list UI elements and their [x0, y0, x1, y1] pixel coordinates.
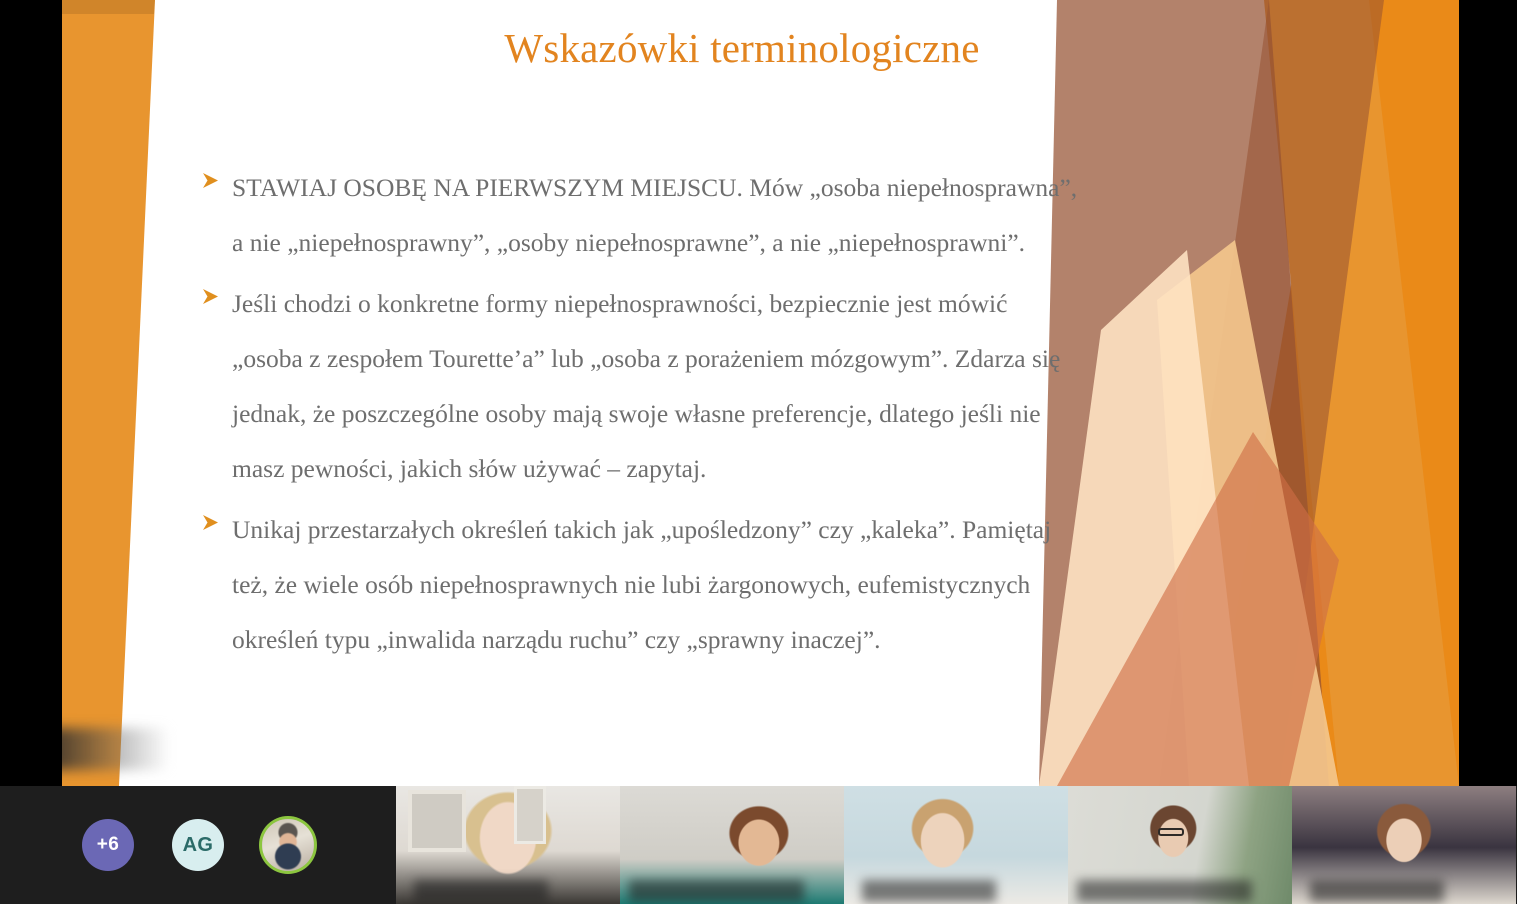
active-speaker-avatar[interactable]: [262, 819, 314, 871]
avatar-photo: [262, 819, 314, 871]
participant-avatar-initials[interactable]: AG: [172, 819, 224, 871]
participant-name-label: [414, 880, 548, 902]
video-tile[interactable]: [1068, 786, 1292, 904]
slide-left-accent-shade: [62, 0, 362, 14]
video-tile[interactable]: [1292, 786, 1516, 904]
presenter-control-overlay[interactable]: [62, 728, 167, 770]
video-tile[interactable]: [620, 786, 844, 904]
participant-name-label: [1310, 880, 1444, 902]
bullet-2-line-1: Jeśli chodzi o konkretne formy niepełnos…: [232, 276, 1222, 331]
bullet-1-line-2: a nie „niepełnosprawny”, „osoby niepełno…: [232, 215, 1222, 270]
slide-body: STAWIAJ OSOBĘ NA PIERWSZYM MIEJSCU. Mów …: [192, 160, 1222, 667]
glasses-icon: [1158, 828, 1184, 836]
arrow-bullet-icon: [198, 510, 224, 536]
bullet-3-line-1: Unikaj przestarzałych określeń takich ja…: [232, 502, 1222, 557]
slide-title: Wskazówki terminologiczne: [222, 24, 1262, 72]
background-picture-frame: [514, 786, 546, 844]
participant-name-label: [862, 880, 996, 902]
bullet-2-line-2: „osoba z zespołem Tourette’a” lub „osoba…: [232, 331, 1222, 386]
shared-content-stage[interactable]: Wskazówki terminologiczne STAWIAJ OSOBĘ …: [0, 0, 1517, 786]
bullet-2-line-4: masz pewności, jakich słów używać – zapy…: [232, 441, 1222, 496]
video-tile[interactable]: [396, 786, 620, 904]
bullet-2-line-3: jednak, że poszczególne osoby mają swoje…: [232, 386, 1222, 441]
background-picture-frame: [408, 790, 466, 852]
participant-name-label: [1077, 880, 1252, 902]
bullet-3-line-3: określeń typu „inwalida narządu ruchu” c…: [232, 612, 1222, 667]
arrow-bullet-icon: [198, 168, 224, 194]
slide-bullet-3: Unikaj przestarzałych określeń takich ja…: [192, 502, 1222, 667]
bullet-1-line-1: STAWIAJ OSOBĘ NA PIERWSZYM MIEJSCU. Mów …: [232, 160, 1222, 215]
participant-filmstrip: +6 AG: [0, 786, 1517, 904]
arrow-bullet-icon: [198, 284, 224, 310]
video-tile[interactable]: [844, 786, 1068, 904]
bullet-3-line-2: też, że wiele osób niepełnosprawnych nie…: [232, 557, 1222, 612]
participant-name-label: [629, 880, 804, 902]
slide-bullet-2: Jeśli chodzi o konkretne formy niepełnos…: [192, 276, 1222, 496]
screen-share-view: Wskazówki terminologiczne STAWIAJ OSOBĘ …: [0, 0, 1517, 904]
slide-bullet-1: STAWIAJ OSOBĘ NA PIERWSZYM MIEJSCU. Mów …: [192, 160, 1222, 270]
avatar-group: +6 AG: [0, 786, 396, 904]
overflow-participants-badge[interactable]: +6: [82, 819, 134, 871]
presentation-slide[interactable]: Wskazówki terminologiczne STAWIAJ OSOBĘ …: [62, 0, 1459, 786]
